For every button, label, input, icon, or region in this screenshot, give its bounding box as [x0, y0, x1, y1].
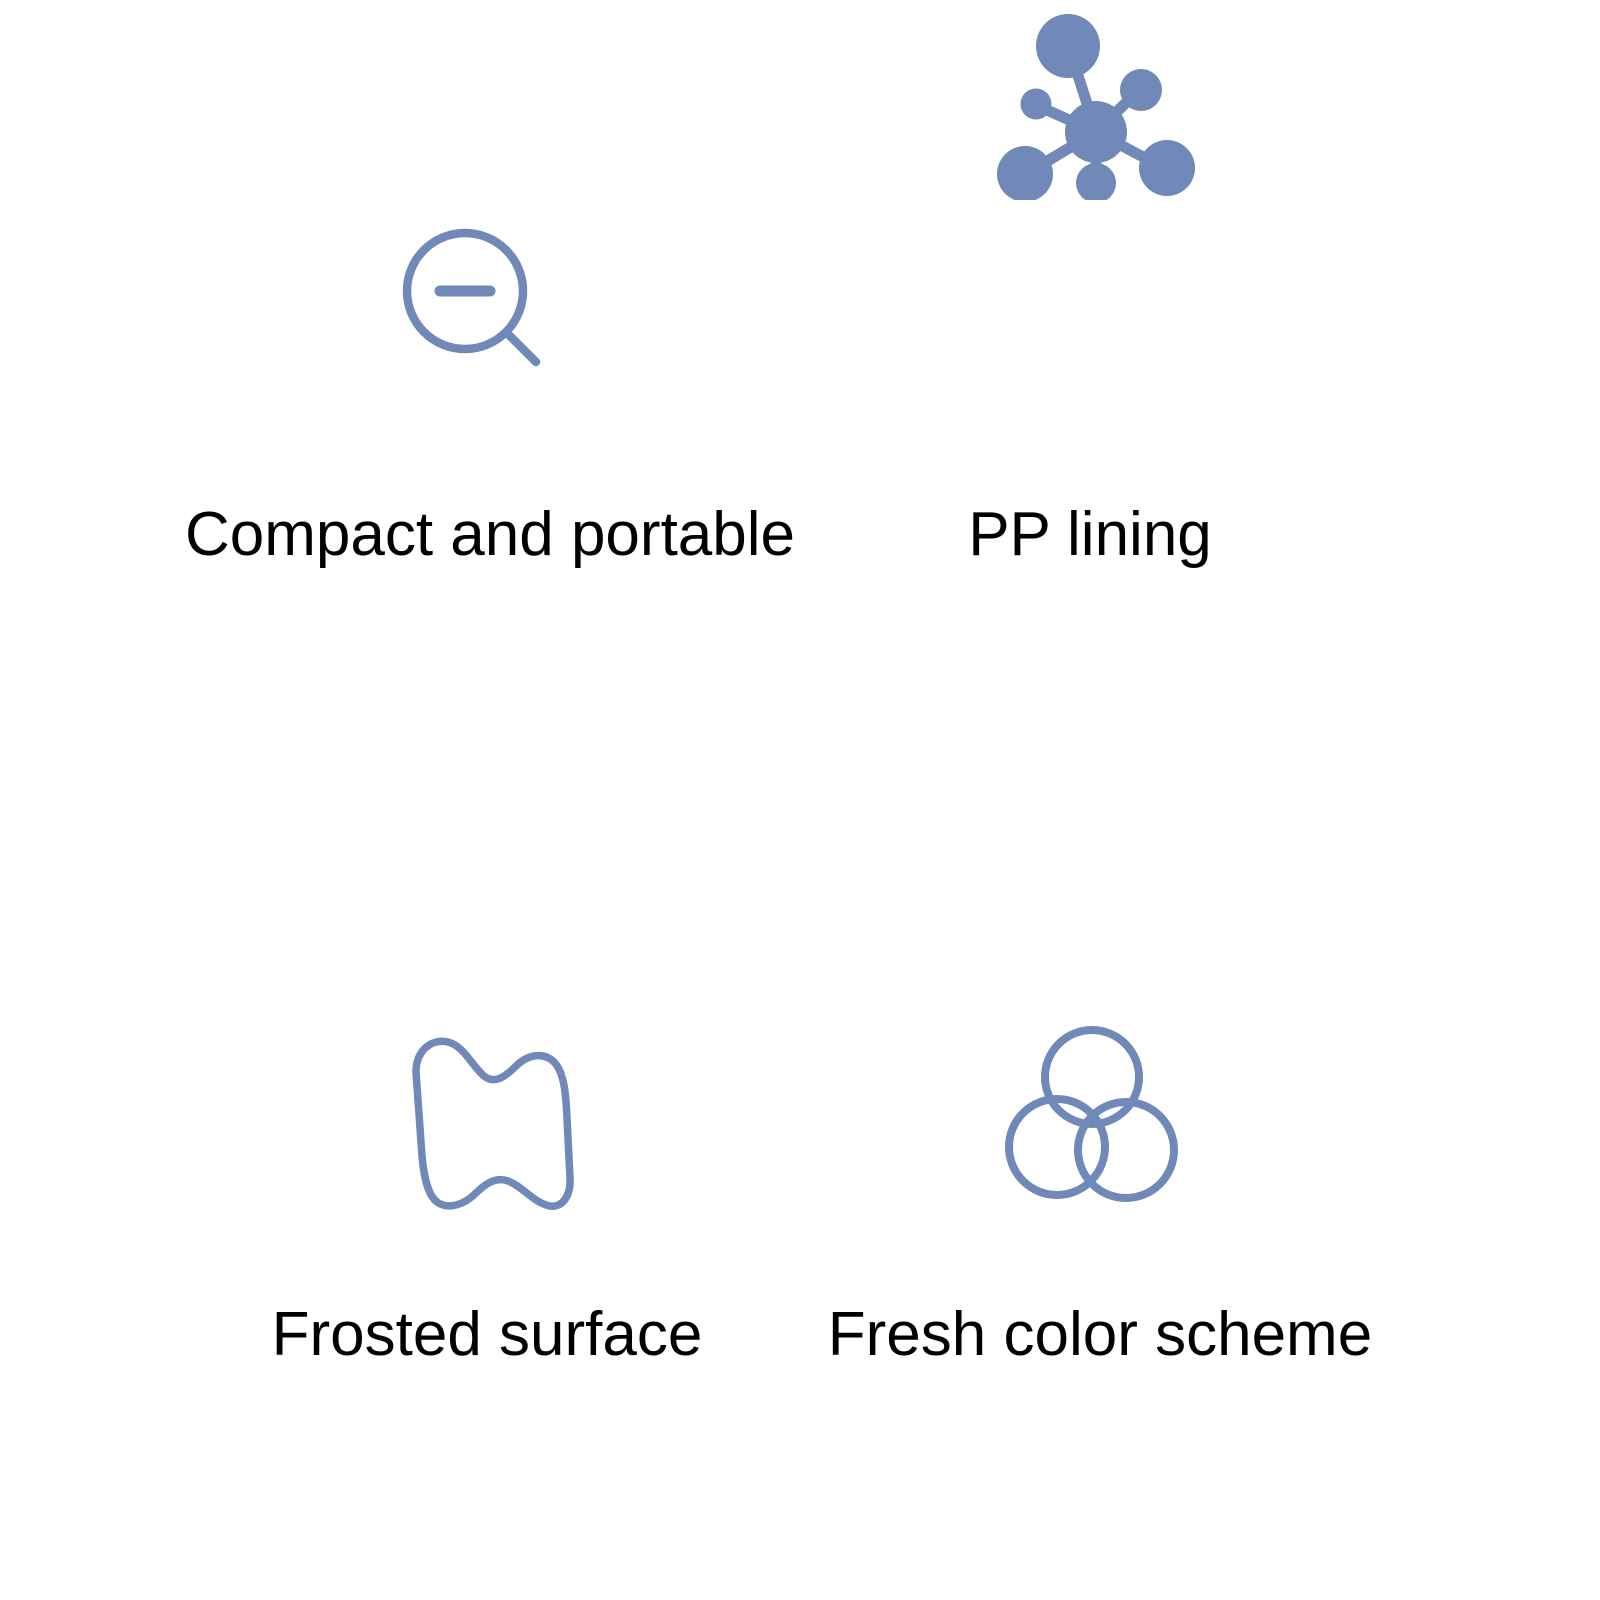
zoom-out-magnifier-icon: [402, 228, 550, 376]
feature-label-compact-and-portable: Compact and portable: [158, 504, 822, 566]
wavy-surface-icon: [404, 1028, 584, 1218]
feature-label-fresh-color-scheme: Fresh color scheme: [810, 1304, 1390, 1366]
feature-card-compact-and-portable: Compact and portable: [0, 0, 800, 800]
feature-grid: Compact and portable: [0, 0, 1600, 1600]
molecule-icon: [996, 10, 1196, 200]
feature-card-pp-lining: PP lining: [800, 0, 1600, 800]
feature-label-frosted-surface: Frosted surface: [262, 1304, 712, 1366]
three-circles-icon: [992, 1014, 1192, 1214]
feature-card-frosted-surface: Frosted surface: [0, 800, 800, 1600]
feature-label-pp-lining: PP lining: [960, 504, 1220, 566]
feature-card-fresh-color-scheme: Fresh color scheme: [800, 800, 1600, 1600]
